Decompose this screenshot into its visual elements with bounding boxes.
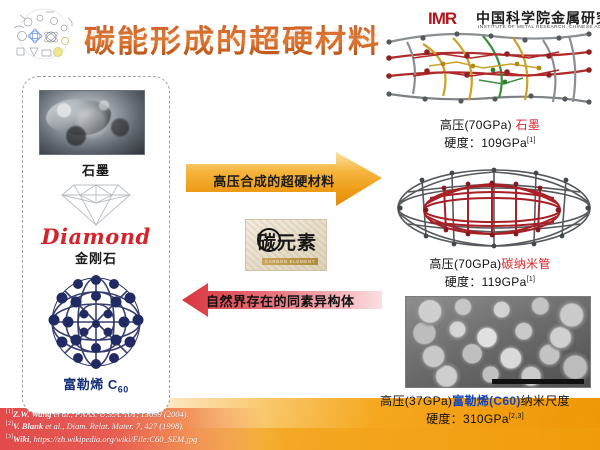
cap-r1-highlight: 石墨	[516, 118, 541, 132]
cap-r1-hardness-label: 硬度：	[444, 136, 481, 150]
graphite-caption: 石墨	[22, 160, 170, 179]
cap-r2-highlight: 碳纳米管	[501, 257, 550, 271]
reference-item: [3]Wiki, https://zh.wikipedia.org/wiki/F…	[6, 432, 336, 444]
cap-r3-highlight: 富勒烯(C60)	[452, 394, 520, 408]
reference-number: [1]	[6, 409, 13, 415]
compressed-carbon-nanotube-model	[392, 164, 596, 252]
fullerene-sem-micrograph	[405, 296, 591, 388]
reference-citation: et al., PNAS. U.S.A. 101, 13699 (2004).	[52, 409, 189, 419]
carbon-element-stamp: 碳元素 CARBON ELEMENT	[245, 219, 327, 271]
caption-compressed-fullerene: 高压(37GPa)富勒烯(C60)纳米尺度 硬度：310GPa[2,3]	[350, 394, 600, 427]
reference-citation: et al., Diam. Relat. Mater. 7, 427 (1998…	[43, 421, 184, 431]
cap-r3-hardness-value: 310GPa	[463, 412, 509, 426]
cap-r2-hardness-value: 119GPa	[482, 275, 527, 289]
cap-r1-hardness-value: 109GPa	[481, 136, 527, 150]
cap-r2-prefix: 高压(70GPa)	[429, 257, 501, 271]
reference-author: V. Blank	[13, 421, 43, 431]
cap-r1-line1: 高压(70GPa) 石墨	[440, 118, 540, 132]
stamp-text: 碳元素	[246, 228, 328, 255]
cap-r2-line1: 高压(70GPa)碳纳米管	[429, 257, 550, 271]
reference-item: [1]Z.W. Wang et al., PNAS. U.S.A. 101, 1…	[6, 407, 336, 419]
caption-compressed-nanotube: 高压(70GPa)碳纳米管 硬度：119GPa[1]	[384, 257, 596, 290]
sem-scale-bar	[492, 379, 584, 384]
cap-r1-ref: [1]	[527, 137, 536, 144]
fullerene-caption-main: 富勒烯 C	[63, 377, 118, 392]
cap-r3-line1: 高压(37GPa)富勒烯(C60)纳米尺度	[380, 394, 570, 408]
fullerene-caption: 富勒烯 C60	[22, 374, 170, 395]
graphite-photo	[39, 90, 145, 155]
reference-author: Z.W. Wang	[13, 409, 52, 419]
diamond-wordmark: Diamond	[22, 224, 170, 249]
page-title: 碳能形成的超硬材料	[84, 16, 381, 61]
reference-number: [3]	[6, 434, 13, 440]
stamp-subtext: CARBON ELEMENT	[262, 258, 318, 265]
cap-r3-hardness-label: 硬度：	[426, 412, 463, 426]
cap-r3-suffix: 纳米尺度	[521, 394, 570, 408]
fullerene-caption-sub: 60	[118, 385, 129, 395]
cap-r3-ref: [2,3]	[509, 413, 524, 420]
forward-process-label: 高压合成的超硬材料	[196, 171, 352, 190]
cap-r2-hardness-label: 硬度：	[445, 275, 482, 289]
science-doodle-icon	[8, 6, 80, 64]
diamond-sketch-icon	[58, 182, 134, 226]
cap-r1-prefix: 高压(70GPa)	[440, 118, 516, 132]
reverse-process-label: 自然界存在的同素异构体	[206, 291, 378, 310]
compressed-graphite-layers-model	[383, 22, 595, 114]
diamond-caption: 金刚石	[22, 248, 170, 267]
slide-canvas: 碳能形成的超硬材料 碳能形成的超硬材料 IMR 中国科学院金属研究所 INSTI…	[0, 0, 600, 450]
fullerene-model-icon	[48, 274, 144, 370]
reference-author: Wiki	[13, 434, 29, 444]
cap-r3-prefix: 高压(37GPa)	[380, 394, 452, 408]
cap-r2-ref: [1]	[527, 276, 536, 283]
reference-list: [1]Z.W. Wang et al., PNAS. U.S.A. 101, 1…	[6, 407, 336, 444]
reference-item: [2]V. Blank et al., Diam. Relat. Mater. …	[6, 419, 336, 431]
reference-citation: , https://zh.wikipedia.org/wiki/File:C60…	[29, 434, 197, 444]
caption-compressed-graphite: 高压(70GPa) 石墨 硬度：109GPa[1]	[384, 118, 596, 151]
reference-number: [2]	[6, 421, 13, 427]
